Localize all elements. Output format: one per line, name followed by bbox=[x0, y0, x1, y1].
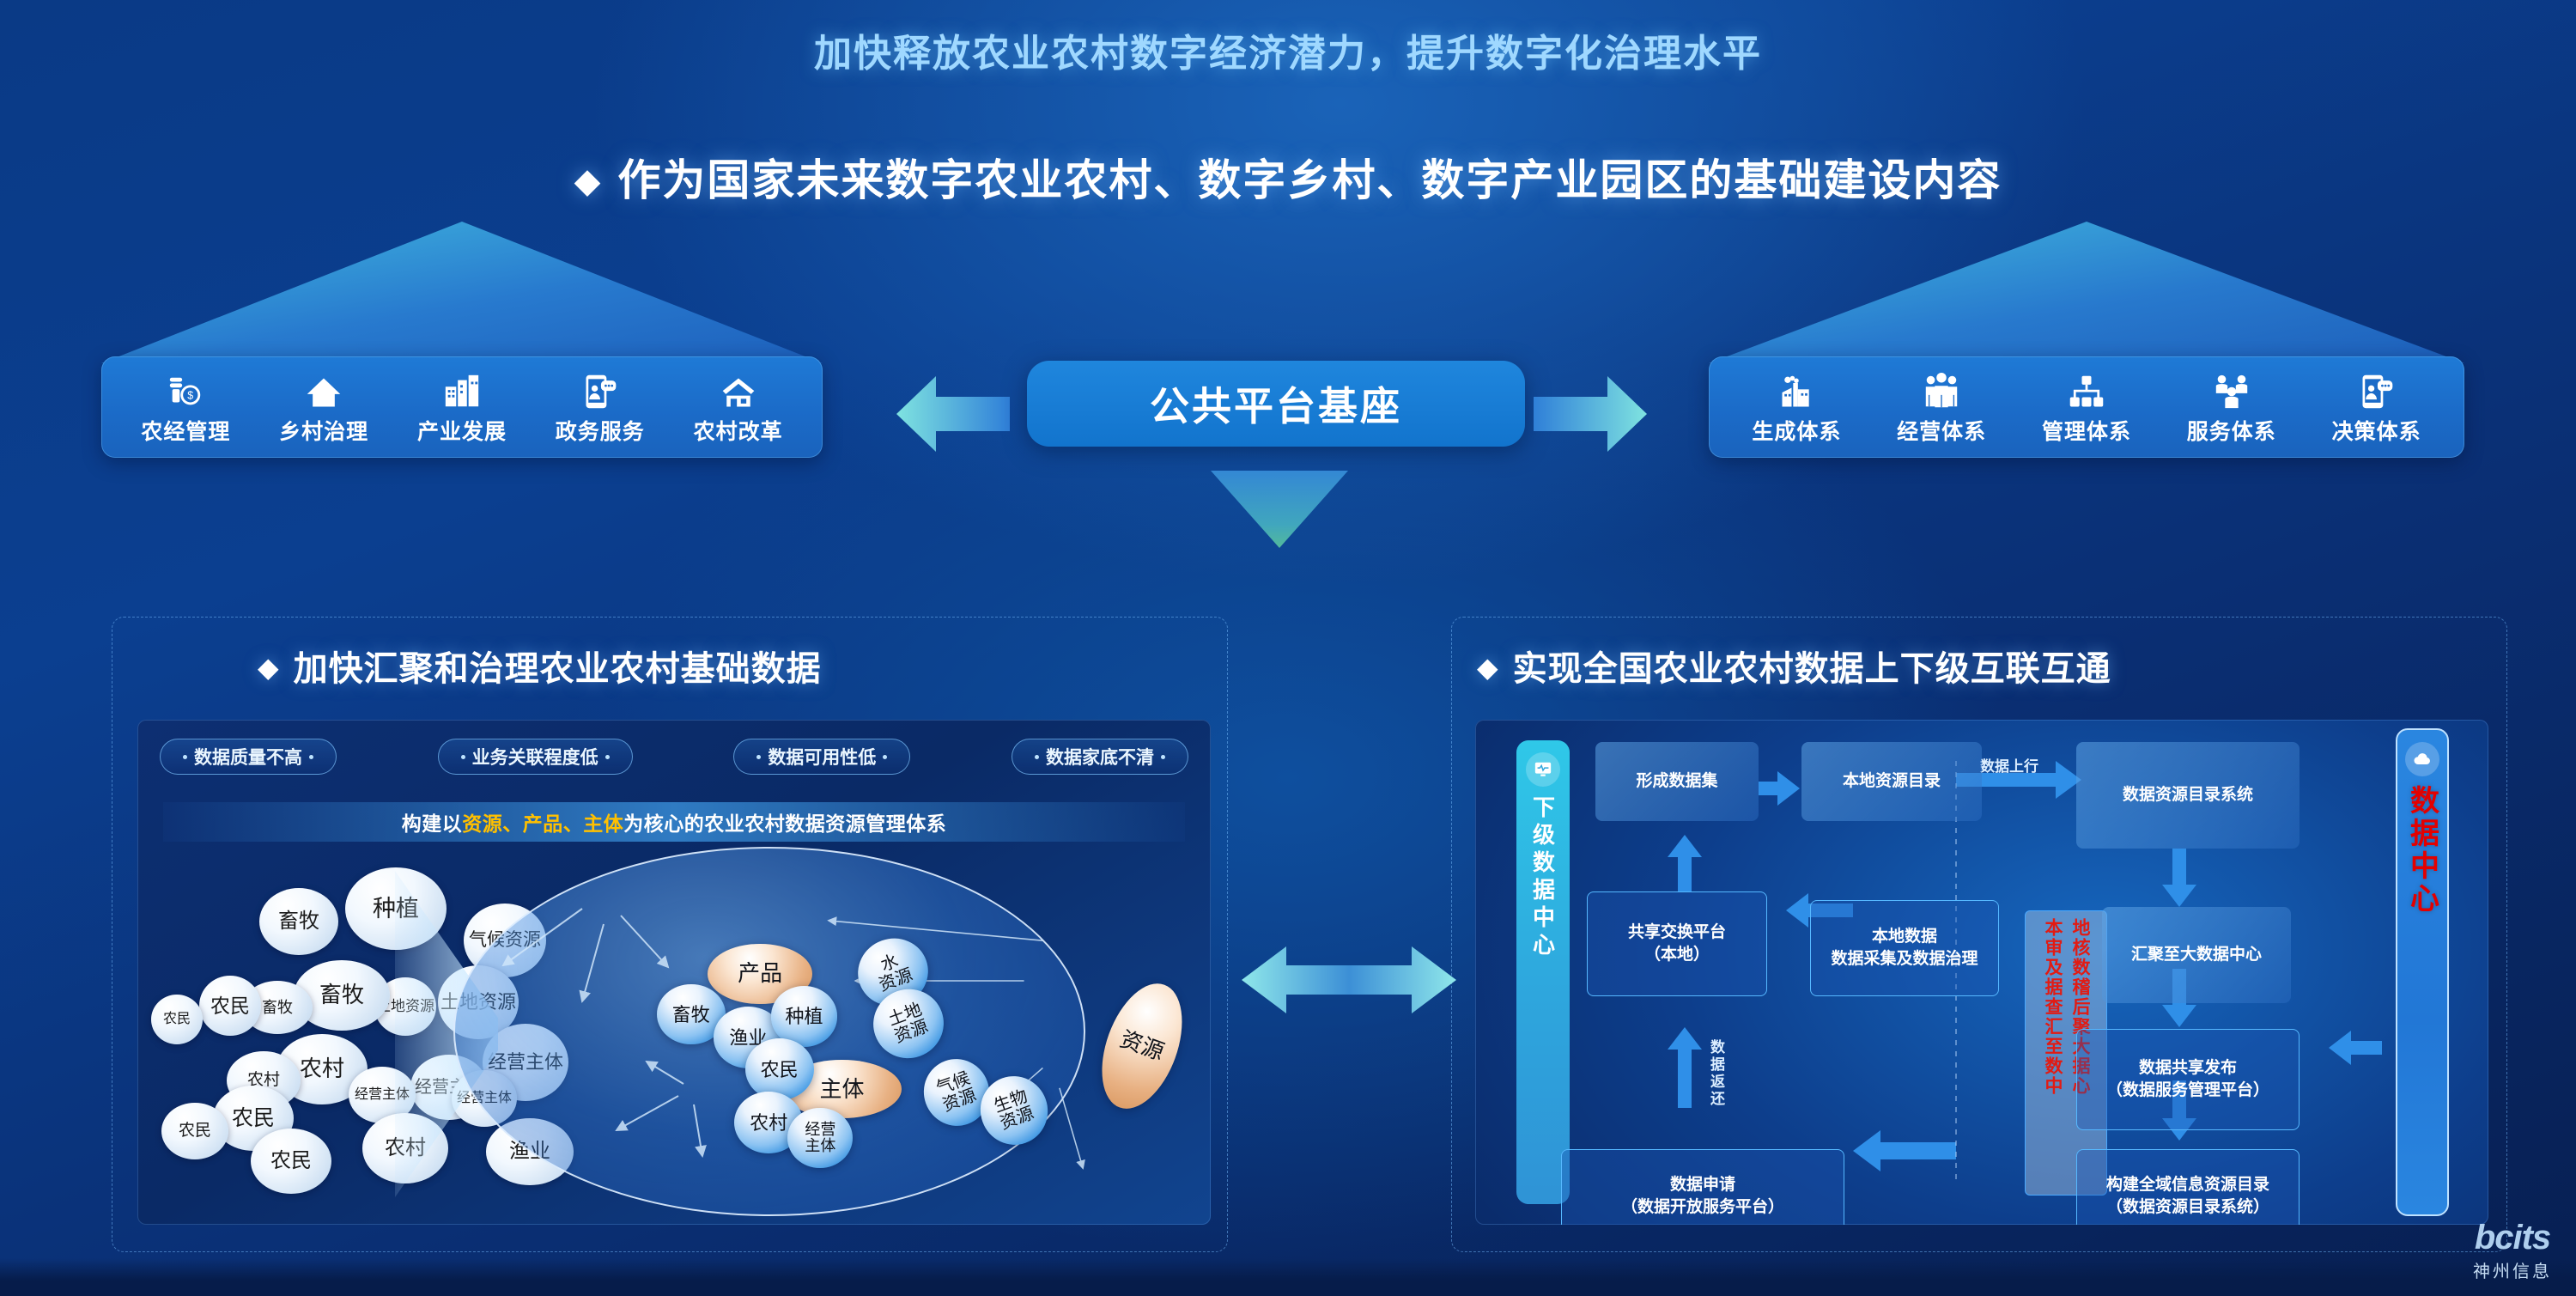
flow-box-0-label: 形成数据集 bbox=[1636, 770, 1717, 793]
flow-box-0[interactable]: 形成数据集 bbox=[1595, 742, 1759, 821]
issue-pill-3[interactable]: 数据家底不清 bbox=[1012, 739, 1188, 775]
mobile-chat-icon bbox=[2358, 368, 2396, 411]
village-house-icon bbox=[719, 368, 758, 411]
sidebar-data-center[interactable]: 数据中心 bbox=[2396, 728, 2449, 1216]
flow-box-1[interactable]: 本地资源目录 bbox=[1801, 742, 1982, 821]
monitor-icon bbox=[1526, 752, 1560, 787]
pill-dot-icon bbox=[461, 755, 465, 759]
factory-icon bbox=[1777, 368, 1816, 411]
org-chart-icon bbox=[2067, 368, 2106, 411]
pentagon-left-item-3-label: 政务服务 bbox=[556, 415, 645, 446]
banner-suffix: 为核心的农业农村数据资源管理体系 bbox=[623, 807, 946, 837]
flow-box-4[interactable]: 数据资源目录系统 bbox=[2076, 742, 2300, 849]
pentagon-right-roof bbox=[1709, 222, 2464, 363]
issue-pill-2[interactable]: 数据可用性低 bbox=[733, 739, 910, 775]
pentagon-left-item-4-label: 农村改革 bbox=[694, 415, 783, 446]
flow-box-6[interactable]: 数据共享发布（数据服务管理平台） bbox=[2076, 1029, 2300, 1130]
logo-mark: bcits bbox=[2473, 1219, 2552, 1257]
coins-money-icon: $ bbox=[166, 368, 205, 411]
data-bubble-16: 农民 bbox=[161, 1103, 228, 1159]
service-people-icon bbox=[2212, 368, 2251, 411]
arrow-down-icon bbox=[1211, 471, 1348, 548]
pentagon-left-item-3[interactable]: 政务服务 bbox=[552, 368, 648, 446]
banner-highlight: 资源、产品、主体 bbox=[462, 807, 623, 837]
flow-box-7-label: 构建全域信息资源目录（数据资源目录系统） bbox=[2106, 1174, 2269, 1218]
pentagon-left-roof bbox=[101, 222, 823, 363]
return-label: 数据返还 bbox=[1705, 1039, 1727, 1108]
page-title: 加快释放农业农村数字经济潜力，提升数字化治理水平 bbox=[0, 22, 2576, 77]
pentagon-left-items: $ 农经管理 乡村治理 产业发展 政务服务 农村改革 bbox=[101, 356, 823, 458]
flow-box-8[interactable]: 数据申请（数据开放服务平台） bbox=[1561, 1149, 1844, 1225]
sidebar-sub-data-center[interactable]: 下级数据中心 bbox=[1516, 740, 1570, 1204]
arrow-right-icon bbox=[1534, 374, 1647, 453]
data-bubble-7: 农民 bbox=[199, 976, 261, 1036]
issue-pill-0-label: 数据质量不高 bbox=[194, 744, 302, 770]
flow-box-3[interactable]: 本地数据数据采集及数据治理 bbox=[1810, 900, 1999, 996]
data-interconnect-diagram: 下级数据中心 数据中心 bbox=[1475, 720, 2488, 1225]
diamond-bullet-icon: ◆ bbox=[574, 162, 603, 200]
uplink-label: 数据上行 bbox=[1980, 754, 2038, 776]
pentagon-digital-village: 数字乡村建设 $ 农经管理 乡村治理 产业发展 政务服务 农村改革 bbox=[101, 222, 823, 458]
center-platform-badge[interactable]: 公共平台基座 bbox=[1027, 361, 1525, 447]
pentagon-right-items: 生成体系 经营体系 管理体系 服务体系 决策体系 bbox=[1709, 356, 2464, 458]
flow-box-5[interactable]: 汇聚至大数据中心 bbox=[2102, 907, 2291, 1003]
bidirectional-arrow-icon bbox=[1242, 943, 1456, 1017]
flow-box-2[interactable]: 共享交换平台（本地） bbox=[1587, 891, 1767, 996]
pentagon-left-item-2-label: 产业发展 bbox=[417, 415, 507, 446]
arrow-left-icon bbox=[896, 374, 1010, 453]
issue-pill-1[interactable]: 业务关联程度低 bbox=[438, 739, 633, 775]
issue-pill-2-label: 数据可用性低 bbox=[768, 744, 876, 770]
flow-box-6-label: 数据共享发布（数据服务管理平台） bbox=[2106, 1057, 2269, 1101]
data-bubble-0: 畜牧 bbox=[259, 888, 338, 955]
flow-box-3-label: 本地数据数据采集及数据治理 bbox=[1831, 926, 1978, 970]
pentagon-left-item-1[interactable]: 乡村治理 bbox=[276, 368, 372, 446]
data-bubble-8: 农民 bbox=[151, 995, 203, 1044]
buildings-icon bbox=[442, 368, 482, 411]
mobile-service-icon bbox=[581, 368, 619, 411]
bottom-strip bbox=[0, 1258, 2576, 1296]
cloud-icon bbox=[2405, 742, 2439, 776]
flow-box-4-label: 数据资源目录系统 bbox=[2123, 784, 2253, 806]
pill-dot-icon bbox=[756, 755, 761, 759]
issue-pill-3-label: 数据家底不清 bbox=[1046, 744, 1154, 770]
flow-box-8-label: 数据申请（数据开放服务平台） bbox=[1621, 1174, 1784, 1218]
issue-pill-1-label: 业务关联程度低 bbox=[472, 744, 598, 770]
issue-pill-row: 数据质量不高业务关联程度低数据可用性低数据家底不清 bbox=[160, 739, 1188, 775]
company-logo: bcits 神州信息 bbox=[2473, 1219, 2552, 1282]
pill-dot-icon bbox=[1035, 755, 1039, 759]
issue-pill-0[interactable]: 数据质量不高 bbox=[160, 739, 337, 775]
sidebar-sub-data-center-label: 下级数据中心 bbox=[1528, 795, 1559, 960]
center-platform-label: 公共平台基座 bbox=[1150, 375, 1402, 432]
pentagon-smart-agriculture: 智慧农业发展 生成体系 经营体系 管理体系 服务体系 决策体系 bbox=[1709, 222, 2464, 458]
pill-dot-icon bbox=[605, 755, 610, 759]
pentagon-right-item-0-label: 生成体系 bbox=[1752, 415, 1841, 446]
pentagon-left-item-0-label: 农经管理 bbox=[141, 415, 230, 446]
pentagon-right-item-0[interactable]: 生成体系 bbox=[1748, 368, 1844, 446]
pentagon-right-item-4-label: 决策体系 bbox=[2332, 415, 2421, 446]
sidebar-data-center-label: 数据中心 bbox=[2402, 785, 2444, 916]
banner-prefix: 构建以 bbox=[402, 807, 463, 837]
core-node-2: 资源 bbox=[1087, 973, 1198, 1120]
core-system-banner: 构建以资源、产品、主体为核心的农业农村数据资源管理体系 bbox=[163, 802, 1185, 842]
pentagon-left-item-2[interactable]: 产业发展 bbox=[414, 368, 510, 446]
pentagon-right-item-3[interactable]: 服务体系 bbox=[2184, 368, 2280, 446]
flow-box-5-label: 汇聚至大数据中心 bbox=[2131, 944, 2262, 966]
pentagon-right-item-1[interactable]: 经营体系 bbox=[1893, 368, 1990, 446]
page-subtitle: ◆作为国家未来数字农业农村、数字乡村、数字产业园区的基础建设内容 bbox=[0, 146, 2576, 208]
core-node-5: 种植 bbox=[771, 986, 838, 1046]
pentagon-right-item-2[interactable]: 管理体系 bbox=[2038, 368, 2135, 446]
pentagon-left-item-0[interactable]: $ 农经管理 bbox=[137, 368, 234, 446]
pentagon-right-item-2-label: 管理体系 bbox=[2042, 415, 2131, 446]
red-note-col-2: 本审及据查汇至数中 bbox=[2039, 918, 2065, 1188]
page-subtitle-text: 作为国家未来数字农业农村、数字乡村、数字产业园区的基础建设内容 bbox=[617, 156, 2002, 204]
pill-dot-icon bbox=[183, 755, 187, 759]
core-node-8: 经营主体 bbox=[787, 1108, 853, 1168]
flow-box-2-label: 共享交换平台（本地） bbox=[1628, 922, 1726, 965]
logo-name-cn: 神州信息 bbox=[2473, 1257, 2552, 1282]
flow-box-1-label: 本地资源目录 bbox=[1843, 770, 1941, 793]
people-group-icon bbox=[1921, 368, 1962, 411]
pentagon-right-item-1-label: 经营体系 bbox=[1897, 415, 1986, 446]
house-icon bbox=[305, 368, 343, 411]
pill-dot-icon bbox=[1161, 755, 1165, 759]
svg-text:$: $ bbox=[188, 390, 194, 402]
data-bubble-17: 农民 bbox=[251, 1129, 331, 1194]
flow-box-7[interactable]: 构建全域信息资源目录（数据资源目录系统） bbox=[2076, 1149, 2300, 1225]
pentagon-right-item-3-label: 服务体系 bbox=[2187, 415, 2276, 446]
pill-dot-icon bbox=[309, 755, 313, 759]
pentagon-right-item-4[interactable]: 决策体系 bbox=[2329, 368, 2425, 446]
pentagon-left-item-1-label: 乡村治理 bbox=[279, 415, 368, 446]
slide-stage: 加快释放农业农村数字经济潜力，提升数字化治理水平 ◆作为国家未来数字农业农村、数… bbox=[0, 0, 2576, 1296]
data-governance-diagram: 数据质量不高业务关联程度低数据可用性低数据家底不清 构建以资源、产品、主体为核心… bbox=[137, 720, 1211, 1225]
pentagon-left-item-4[interactable]: 农村改革 bbox=[690, 368, 787, 446]
pill-dot-icon bbox=[883, 755, 887, 759]
core-node-6: 农民 bbox=[745, 1038, 814, 1100]
